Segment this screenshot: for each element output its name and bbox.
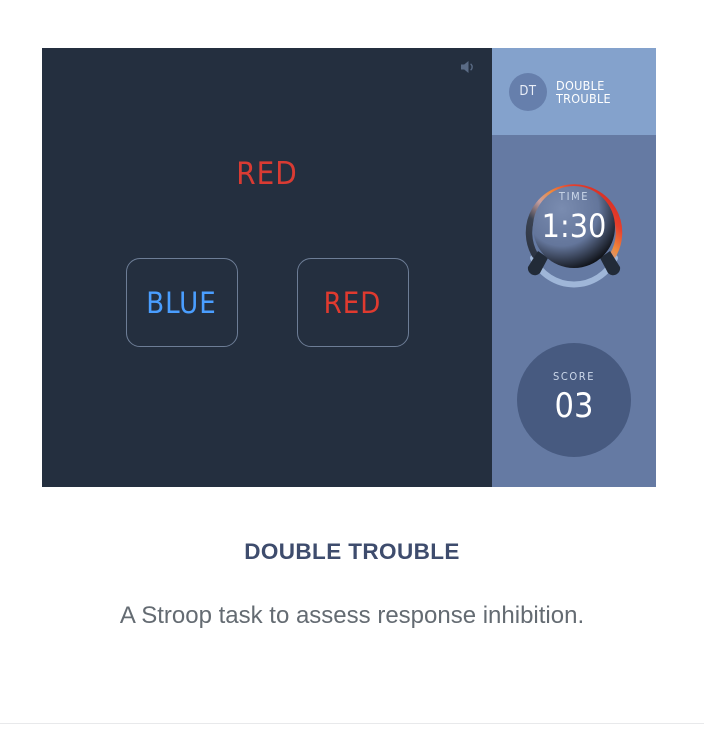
game-name-label: DOUBLE TROUBLE: [556, 79, 640, 105]
avatar: DT: [509, 73, 547, 111]
game-stage: RED BLUE RED: [42, 48, 492, 487]
score-value: 03: [517, 386, 631, 426]
score-label: SCORE: [517, 370, 631, 383]
game-side-panel: DT DOUBLE TROUBLE: [492, 48, 656, 487]
panel-header: DT DOUBLE TROUBLE: [492, 48, 656, 135]
volume-icon[interactable]: [458, 58, 478, 76]
game-preview-card: RED BLUE RED DT DOUBLE TROUBLE: [42, 48, 656, 487]
score-circle: SCORE 03: [517, 343, 631, 457]
choice-row: BLUE RED: [42, 258, 492, 347]
choice-button-blue[interactable]: BLUE: [126, 258, 238, 347]
timer-value: 1:30: [516, 207, 632, 245]
page-title: DOUBLE TROUBLE: [0, 539, 704, 565]
page-description: A Stroop task to assess response inhibit…: [0, 602, 704, 630]
caption-block: DOUBLE TROUBLE A Stroop task to assess r…: [0, 487, 704, 630]
stimulus-word: RED: [42, 156, 492, 192]
timer-label: TIME: [516, 190, 632, 203]
footer-divider: [0, 723, 704, 724]
timer-gauge: TIME 1:30: [516, 165, 632, 289]
choice-button-red[interactable]: RED: [297, 258, 409, 347]
